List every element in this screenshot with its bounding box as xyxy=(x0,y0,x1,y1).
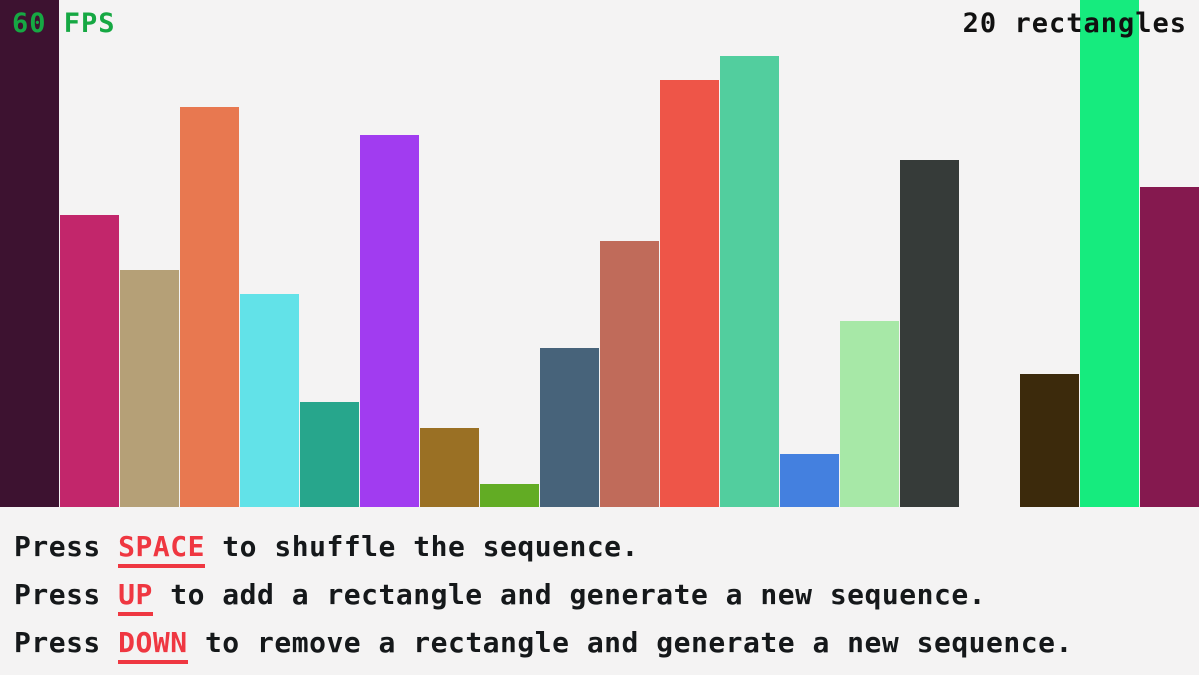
bar-rect xyxy=(240,294,299,507)
bar-rect xyxy=(1080,0,1139,507)
bar-rect xyxy=(1140,187,1199,507)
bar-rect xyxy=(1020,374,1079,507)
bar-rect xyxy=(540,348,599,507)
bar-rect xyxy=(120,270,179,507)
bar-rect xyxy=(900,160,959,507)
rectangle-count-label: 20 rectangles xyxy=(963,8,1187,40)
instructions-panel: Press SPACE to shuffle the sequence.Pres… xyxy=(0,507,1199,675)
bar-rect xyxy=(720,56,779,507)
bar-rect xyxy=(420,428,479,507)
key-hint-down[interactable]: DOWN xyxy=(118,626,187,664)
bar-rect xyxy=(0,0,59,507)
instruction-prefix: Press xyxy=(14,530,118,563)
bar-rect xyxy=(660,80,719,507)
instruction-line: Press SPACE to shuffle the sequence. xyxy=(14,523,1199,571)
instruction-suffix: to add a rectangle and generate a new se… xyxy=(153,578,986,611)
instruction-prefix: Press xyxy=(14,626,118,659)
app-root: 60 FPS 20 rectangles Press SPACE to shuf… xyxy=(0,0,1199,675)
fps-counter: 60 FPS xyxy=(12,8,116,40)
key-hint-space[interactable]: SPACE xyxy=(118,530,205,568)
bar-rect xyxy=(360,135,419,507)
bar-rect xyxy=(600,241,659,507)
instruction-prefix: Press xyxy=(14,578,118,611)
instruction-suffix: to remove a rectangle and generate a new… xyxy=(188,626,1073,659)
bar-rect xyxy=(840,321,899,507)
bar-rect xyxy=(180,107,239,507)
bar-rect xyxy=(300,402,359,507)
bar-chart-canvas xyxy=(0,0,1199,507)
key-hint-up[interactable]: UP xyxy=(118,578,153,616)
instruction-line: Press UP to add a rectangle and generate… xyxy=(14,571,1199,619)
instruction-line: Press DOWN to remove a rectangle and gen… xyxy=(14,619,1199,667)
bar-rect xyxy=(480,484,539,507)
bar-rect xyxy=(780,454,839,507)
bar-rect xyxy=(60,215,119,507)
instruction-suffix: to shuffle the sequence. xyxy=(205,530,639,563)
